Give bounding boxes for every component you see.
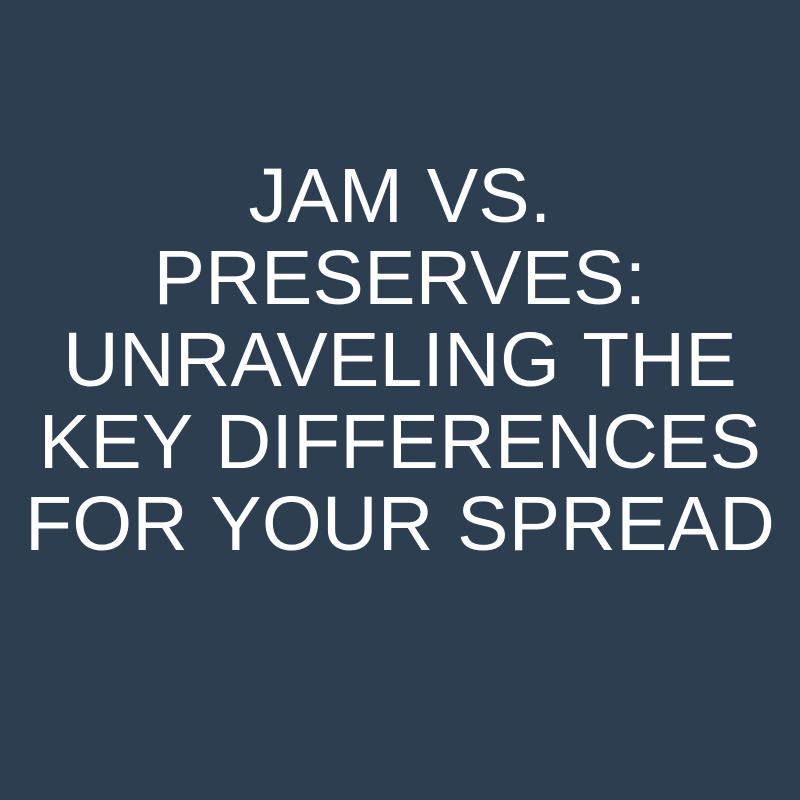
headline-line-1: JAM VS. <box>24 155 776 237</box>
headline-line-2: PRESERVES: <box>24 237 776 319</box>
title-card: JAM VS. PRESERVES: UNRAVELING THE KEY DI… <box>0 0 800 800</box>
headline-line-4: KEY DIFFERENCES <box>24 401 776 483</box>
headline-block: JAM VS. PRESERVES: UNRAVELING THE KEY DI… <box>0 155 800 565</box>
headline-line-5: FOR YOUR SPREAD <box>24 483 776 565</box>
page-title: JAM VS. PRESERVES: UNRAVELING THE KEY DI… <box>24 155 776 565</box>
headline-line-3: UNRAVELING THE <box>24 319 776 401</box>
